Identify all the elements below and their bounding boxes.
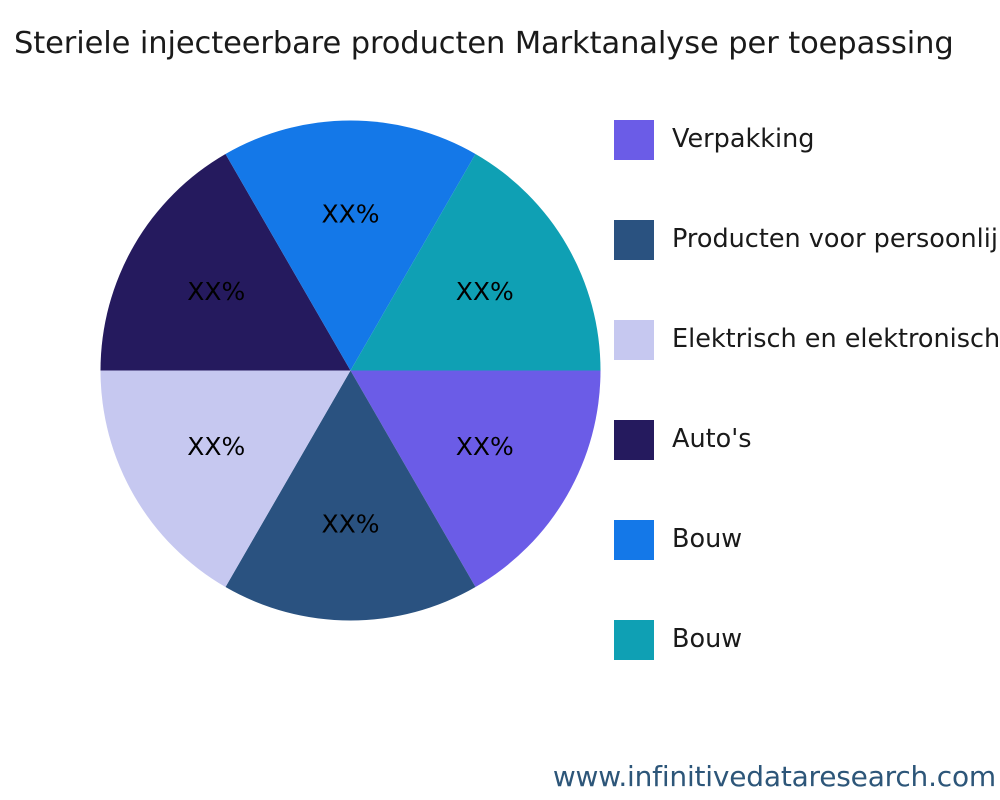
legend-item[interactable]: Producten voor persoonlijke verzorging xyxy=(614,220,1000,260)
legend-item-label: Bouw xyxy=(672,627,742,653)
legend-color-swatch xyxy=(614,220,654,260)
legend-color-swatch xyxy=(614,120,654,160)
legend-item-label: Verpakking xyxy=(672,127,814,153)
legend: VerpakkingProducten voor persoonlijke ve… xyxy=(614,120,1000,680)
legend-item-label: Elektrisch en elektronisch xyxy=(672,327,1000,353)
pie-slice-label: XX% xyxy=(321,510,379,539)
footer-url: www.infinitivedataresearch.com xyxy=(0,760,996,793)
pie-chart: XX%XX%XX%XX%XX%XX% xyxy=(100,120,601,621)
pie-slice-label: XX% xyxy=(321,200,379,229)
legend-color-swatch xyxy=(614,520,654,560)
legend-item[interactable]: Bouw xyxy=(614,520,742,560)
legend-color-swatch xyxy=(614,420,654,460)
pie-chart-svg: XX%XX%XX%XX%XX%XX% xyxy=(100,120,601,621)
legend-item-label: Auto's xyxy=(672,427,752,453)
legend-item[interactable]: Verpakking xyxy=(614,120,814,160)
legend-item[interactable]: Elektrisch en elektronisch xyxy=(614,320,1000,360)
pie-slice-label: XX% xyxy=(456,432,514,461)
legend-item[interactable]: Bouw xyxy=(614,620,742,660)
pie-slice-label: XX% xyxy=(456,277,514,306)
pie-slice-label: XX% xyxy=(187,277,245,306)
legend-item[interactable]: Auto's xyxy=(614,420,752,460)
page-title: Steriele injecteerbare producten Marktan… xyxy=(14,26,1000,63)
pie-slice-group xyxy=(101,120,601,620)
legend-color-swatch xyxy=(614,320,654,360)
pie-slice-label: XX% xyxy=(187,432,245,461)
legend-item-label: Bouw xyxy=(672,527,742,553)
legend-item-label: Producten voor persoonlijke verzorging xyxy=(672,227,1000,253)
legend-color-swatch xyxy=(614,620,654,660)
